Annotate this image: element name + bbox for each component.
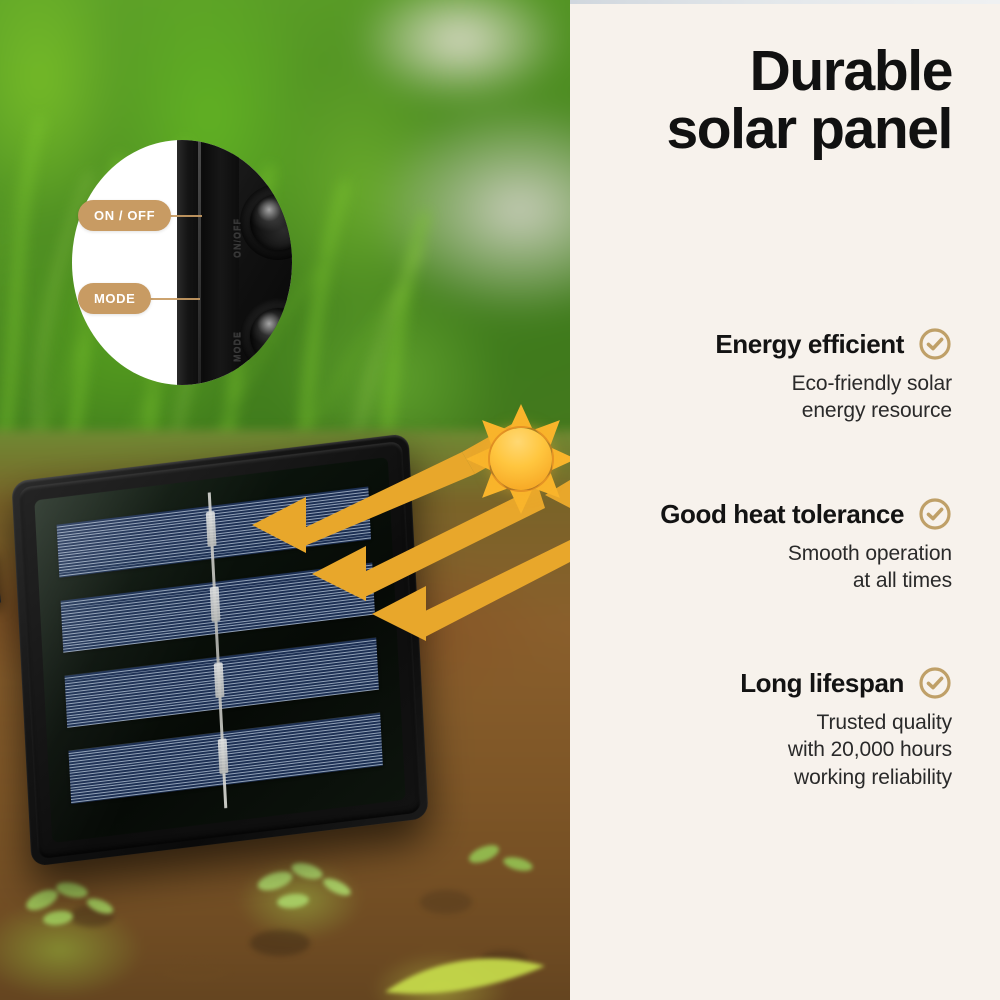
feature-description: Trusted quality with 20,000 hours workin… — [592, 709, 952, 791]
panel-glass — [34, 457, 405, 843]
feature-title: Energy efficient — [715, 329, 904, 360]
feature-title: Long lifespan — [740, 668, 904, 699]
feature-header: Energy efficient — [592, 327, 952, 361]
feature-long-lifespan: Long lifespan Trusted quality with 20,00… — [592, 666, 952, 791]
feature-description: Smooth operation at all times — [592, 540, 952, 595]
panel-side-tab — [0, 549, 1, 605]
feature-energy-efficient: Energy efficient Eco-friendly solar ener… — [592, 327, 952, 425]
title-line-2: solar panel — [602, 100, 952, 158]
top-edge-highlight — [570, 0, 1000, 4]
desc-line: with 20,000 hours — [592, 736, 952, 763]
sun-icon — [466, 404, 570, 514]
desc-line: Eco-friendly solar — [592, 370, 952, 397]
on-off-label-pill: ON / OFF — [78, 200, 171, 231]
check-circle-icon — [918, 327, 952, 361]
device-edge-strip — [177, 140, 239, 385]
solar-panel-body — [11, 433, 428, 867]
button-detail-callout: ON/OFF MODE — [72, 140, 292, 385]
leaf-icon — [380, 940, 550, 1000]
device-highlight-line — [198, 140, 201, 385]
desc-line: at all times — [592, 567, 952, 594]
mode-label-pill: MODE — [78, 283, 151, 314]
desc-line: energy resource — [592, 397, 952, 424]
feature-header: Long lifespan — [592, 666, 952, 700]
feature-header: Good heat tolerance — [592, 497, 952, 531]
desc-line: Trusted quality — [592, 709, 952, 736]
title-line-1: Durable — [750, 39, 952, 103]
check-circle-icon — [918, 497, 952, 531]
product-photo-pane: ON/OFF MODE ON / OFF MODE — [0, 0, 570, 1000]
mode-emboss-label: MODE — [232, 331, 242, 362]
solar-panel-product — [0, 430, 510, 890]
desc-line: working reliability — [592, 764, 952, 791]
feature-title: Good heat tolerance — [660, 499, 904, 530]
page-title: Durable solar panel — [602, 42, 952, 158]
feature-description: Eco-friendly solar energy resource — [592, 370, 952, 425]
sun-disc — [490, 428, 552, 490]
check-circle-icon — [918, 666, 952, 700]
info-pane: Durable solar panel Energy efficient Eco… — [570, 0, 1000, 1000]
desc-line: Smooth operation — [592, 540, 952, 567]
on-off-emboss-label: ON/OFF — [232, 218, 242, 258]
feature-good-heat-tolerance: Good heat tolerance Smooth operation at … — [592, 497, 952, 595]
product-feature-banner: ON/OFF MODE ON / OFF MODE Durable solar … — [0, 0, 1000, 1000]
